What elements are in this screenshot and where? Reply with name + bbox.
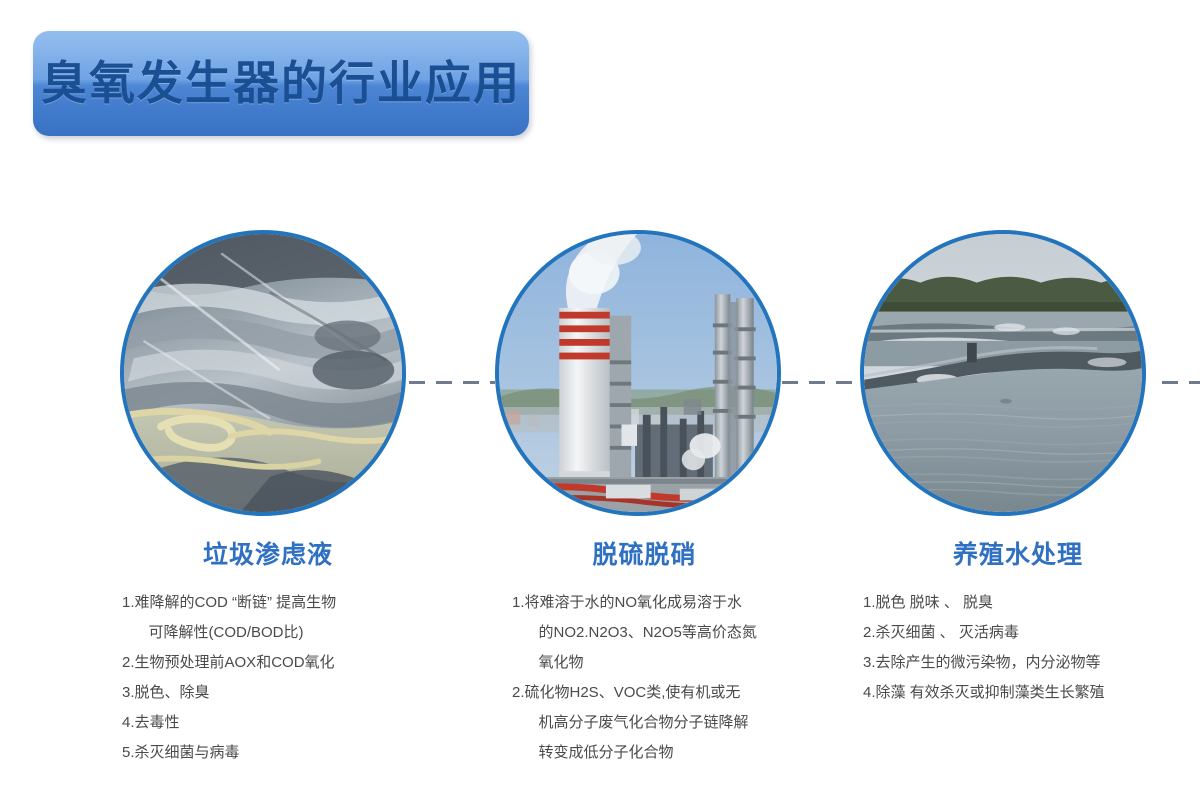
column-heading-aquaculture-water-treatment: 养殖水处理 bbox=[855, 542, 1175, 570]
connector-dashed-line-1 bbox=[409, 381, 495, 384]
list-item: 4.去毒性 bbox=[122, 708, 422, 738]
list-item: 2.杀灭细菌 、 灭活病毒 bbox=[863, 618, 1178, 648]
application-column-desulfurization-denitrification: 脱硫脱硝 1.将难溶于水的NO氧化成易溶于水 的NO2.N2O3、N2O5等高价… bbox=[492, 230, 797, 768]
list-item: 1.将难溶于水的NO氧化成易溶于水 的NO2.N2O3、N2O5等高价态氮 氧化… bbox=[512, 588, 802, 678]
feature-list-desulfurization-denitrification: 1.将难溶于水的NO氧化成易溶于水 的NO2.N2O3、N2O5等高价态氮 氧化… bbox=[512, 588, 802, 768]
list-item: 3.脱色、除臭 bbox=[122, 678, 422, 708]
list-item: 2.硫化物H2S、VOC类,使有机或无 机高分子废气化合物分子链降解 转变成低分… bbox=[512, 678, 802, 768]
feature-list-aquaculture-water-treatment: 1.脱色 脱味 、 脱臭 2.杀灭细菌 、 灭活病毒 3.去除产生的微污染物，内… bbox=[863, 588, 1178, 708]
page-title: 臭氧发生器的行业应用 bbox=[41, 60, 521, 106]
application-column-landfill-leachate: 垃圾渗虑液 1.难降解的COD “断链” 提高生物 可降解性(COD/BOD比)… bbox=[118, 230, 418, 768]
list-item: 4.除藻 有效杀灭或抑制藻类生长繁殖 bbox=[863, 678, 1178, 708]
feature-list-landfill-leachate: 1.难降解的COD “断链” 提高生物 可降解性(COD/BOD比) 2.生物预… bbox=[122, 588, 422, 768]
list-item: 2.生物预处理前AOX和COD氧化 bbox=[122, 648, 422, 678]
column-heading-desulfurization-denitrification: 脱硫脱硝 bbox=[492, 542, 797, 570]
list-item: 1.难降解的COD “断链” 提高生物 可降解性(COD/BOD比) bbox=[122, 588, 422, 648]
list-item: 3.去除产生的微污染物，内分泌物等 bbox=[863, 648, 1178, 678]
aquaculture-ponds-photo bbox=[860, 230, 1146, 516]
power-plant-chimney-photo bbox=[495, 230, 781, 516]
list-item: 5.杀灭细菌与病毒 bbox=[122, 738, 422, 768]
page-title-banner: 臭氧发生器的行业应用 bbox=[33, 31, 529, 136]
list-item: 1.脱色 脱味 、 脱臭 bbox=[863, 588, 1178, 618]
landfill-geomembrane-photo bbox=[120, 230, 406, 516]
column-heading-landfill-leachate: 垃圾渗虑液 bbox=[118, 542, 418, 570]
application-column-aquaculture-water-treatment: 养殖水处理 1.脱色 脱味 、 脱臭 2.杀灭细菌 、 灭活病毒 3.去除产生的… bbox=[855, 230, 1175, 708]
